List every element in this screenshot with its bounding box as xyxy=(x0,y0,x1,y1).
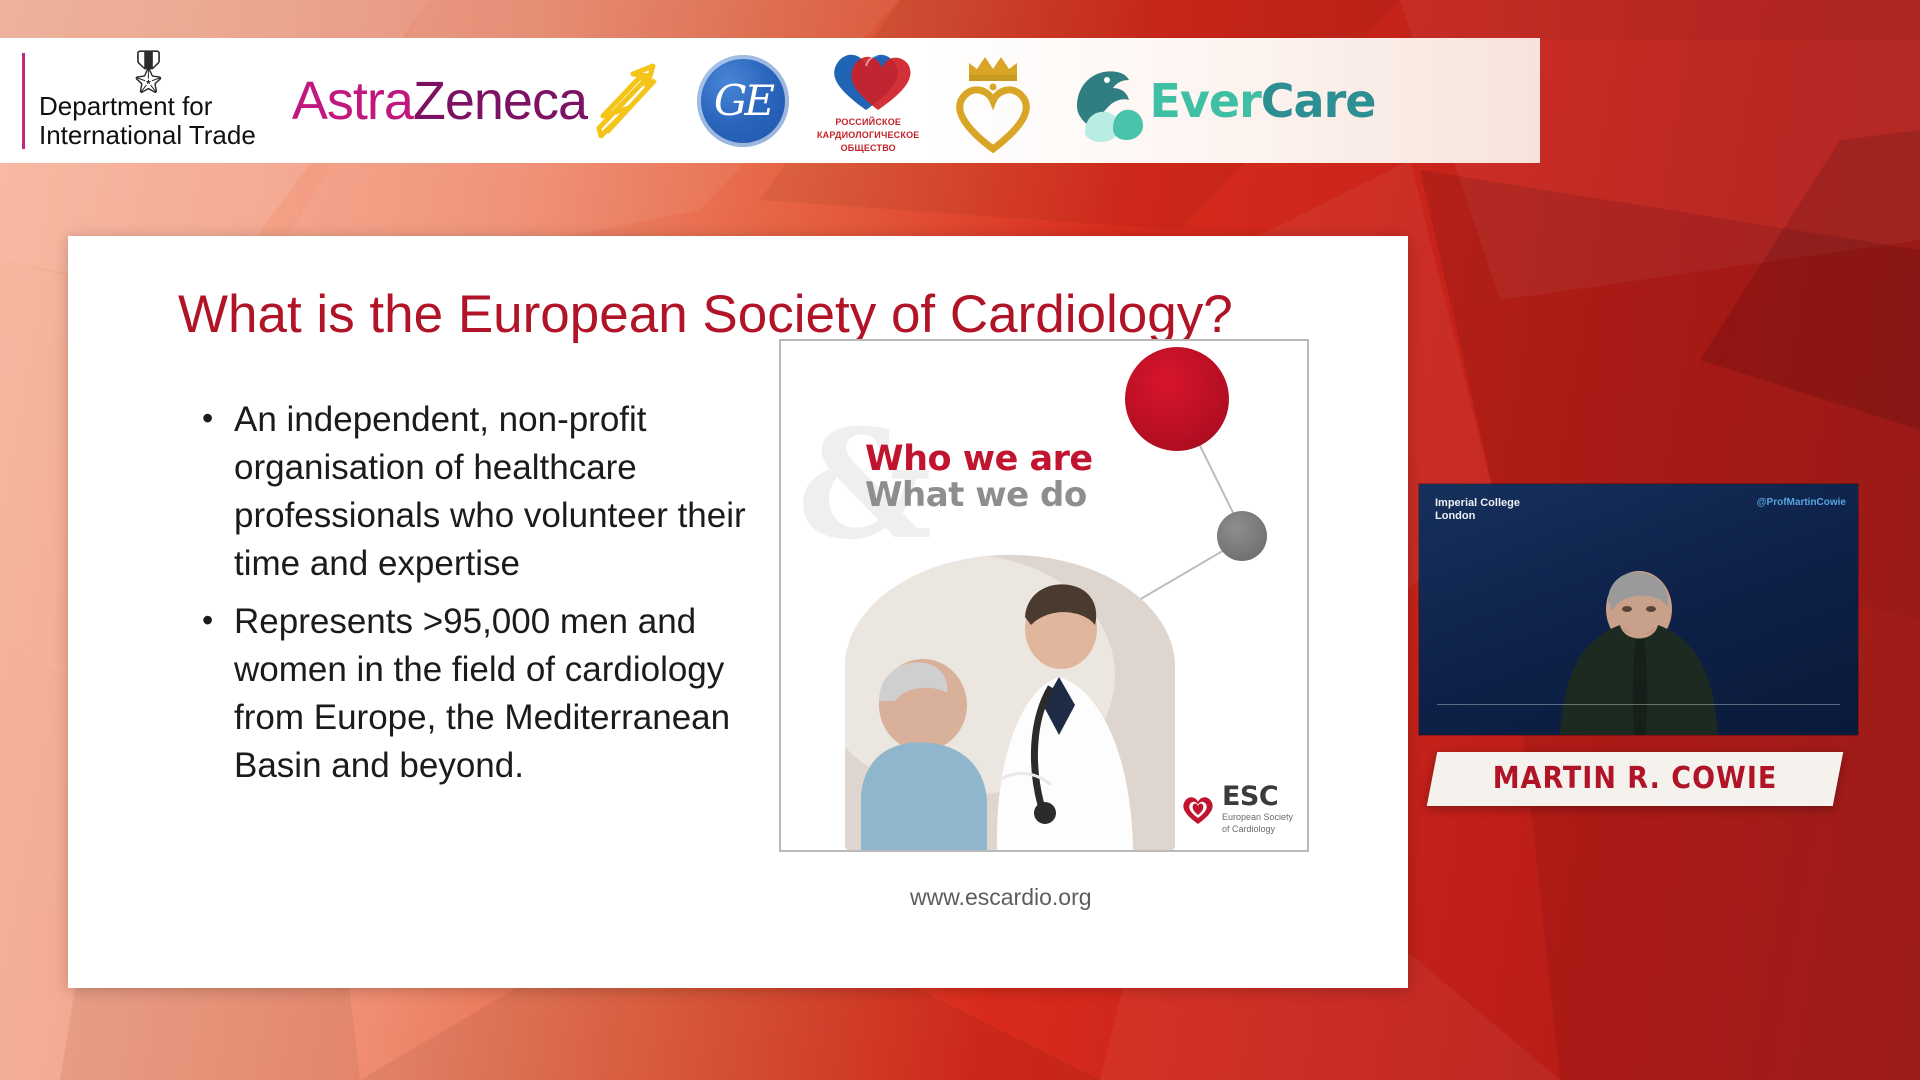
evercare-text-a: Ever xyxy=(1149,74,1260,128)
speaker-silhouette xyxy=(1524,565,1754,735)
logo-crowned-heart xyxy=(945,38,1037,163)
crowned-heart-icon xyxy=(945,49,1037,153)
ge-roundel: GE xyxy=(697,55,789,147)
astrazeneca-wordmark: AstraZeneca xyxy=(292,70,587,132)
dit-line1: Department for xyxy=(39,92,256,121)
esc-red-dot xyxy=(1125,347,1229,451)
esc-acronym: ESC xyxy=(1222,784,1293,810)
esc-image-card: & Who we are What we do xyxy=(779,339,1309,852)
esc-heading-who: Who we are xyxy=(865,439,1093,479)
photo-illustration xyxy=(845,555,1175,850)
esc-grey-dot xyxy=(1217,511,1267,561)
affiliation-line2: London xyxy=(1435,510,1520,523)
astrazeneca-swirl-icon xyxy=(589,58,663,144)
royal-crest-icon: 🎖 xyxy=(39,52,256,92)
logo-russian-society-of-cardiology: РОССИЙСКОЕ КАРДИОЛОГИЧЕСКОЕ ОБЩЕСТВО xyxy=(817,38,920,163)
esc-logo-line1: European Society xyxy=(1222,812,1293,822)
evercare-text-b: Care xyxy=(1261,74,1376,128)
slide-bullet-list: An independent, non-profit organisation … xyxy=(190,396,770,800)
rsc-line1: РОССИЙСКОЕ xyxy=(835,117,901,127)
speaker-name-banner: MARTIN R. COWIE xyxy=(1427,752,1843,806)
bullet-item: An independent, non-profit organisation … xyxy=(190,396,770,588)
rsc-double-heart-icon xyxy=(820,48,916,114)
doctor-patient-photo xyxy=(845,555,1175,850)
video-divider xyxy=(1437,704,1840,705)
astrazeneca-text-a: Astra xyxy=(292,71,413,131)
logo-evercare: EverCare xyxy=(1063,38,1375,163)
presentation-slide: What is the European Society of Cardiolo… xyxy=(68,236,1408,988)
dit-line2: International Trade xyxy=(39,121,256,150)
ge-monogram: GE xyxy=(714,76,772,125)
esc-logo: ESC European Society of Cardiology xyxy=(1181,784,1293,834)
astrazeneca-text-b: Zeneca xyxy=(413,71,587,131)
presentation-stage: 🎖 Department for International Trade Ast… xyxy=(0,0,1920,1080)
affiliation-line1: Imperial College xyxy=(1435,497,1520,510)
slide-website-url: www.escardio.org xyxy=(910,884,1092,911)
esc-heart-icon xyxy=(1181,793,1215,825)
speaker-video-tile[interactable]: Imperial College London @ProfMartinCowie xyxy=(1419,484,1858,735)
social-handle: @ProfMartinCowie xyxy=(1757,497,1846,508)
esc-heading-what: What we do xyxy=(865,475,1087,515)
evercare-wordmark: EverCare xyxy=(1149,74,1375,128)
evercare-birds-icon xyxy=(1063,58,1149,144)
rsc-line3: ОБЩЕСТВО xyxy=(841,143,896,153)
logo-astrazeneca: AstraZeneca xyxy=(292,38,663,163)
affiliation-label: Imperial College London xyxy=(1435,497,1520,523)
sponsor-logo-bar: 🎖 Department for International Trade Ast… xyxy=(0,38,1540,163)
esc-logo-line2: of Cardiology xyxy=(1222,824,1293,834)
logo-ge: GE xyxy=(697,38,789,163)
slide-title: What is the European Society of Cardiolo… xyxy=(178,284,1328,345)
speaker-name: MARTIN R. COWIE xyxy=(1432,752,1838,806)
bullet-item: Represents >95,000 men and women in the … xyxy=(190,598,770,790)
rsc-line2: КАРДИОЛОГИЧЕСКОЕ xyxy=(817,130,920,140)
dit-pink-rule xyxy=(22,53,25,149)
logo-department-for-international-trade: 🎖 Department for International Trade xyxy=(0,38,256,163)
